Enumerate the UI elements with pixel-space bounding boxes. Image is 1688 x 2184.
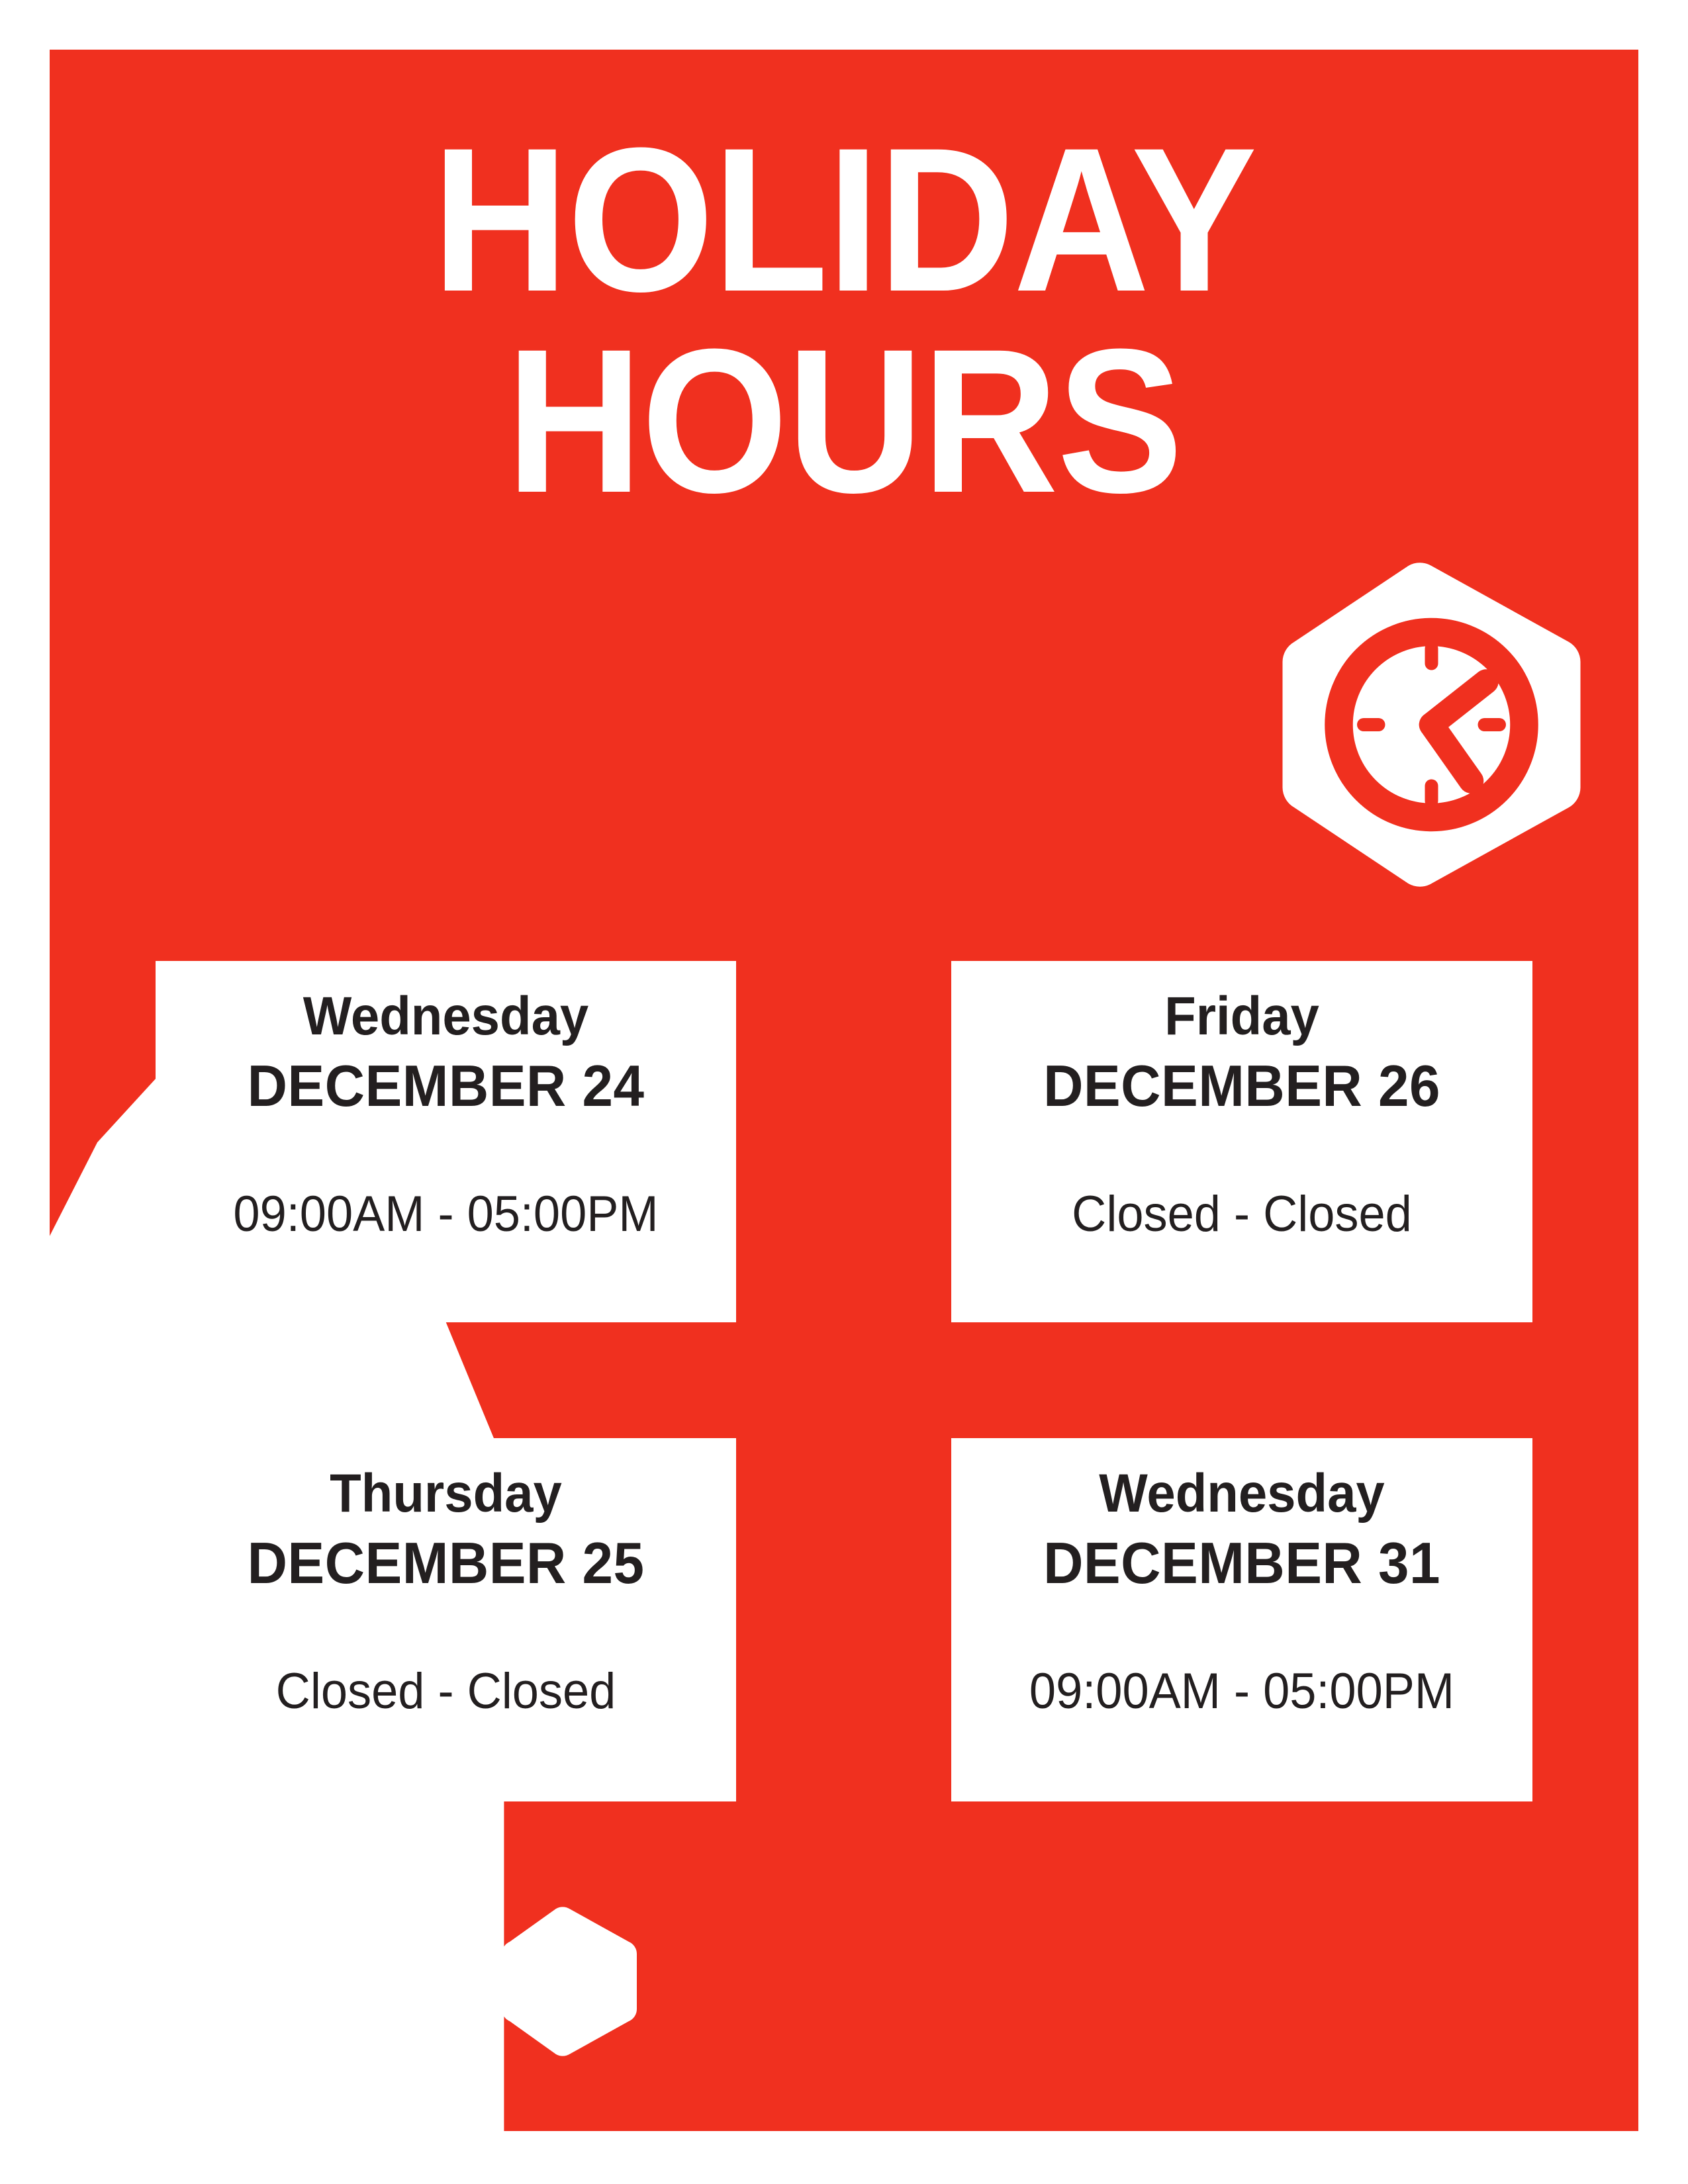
hours-card: Wednesday DECEMBER 31 09:00AM - 05:00PM	[951, 1438, 1532, 1801]
clock-icon	[1274, 559, 1589, 890]
card-day-label: Wednesday	[984, 1463, 1499, 1524]
hours-card: Friday DECEMBER 26 Closed - Closed	[951, 961, 1532, 1322]
card-hours-value: 09:00AM - 05:00PM	[189, 1184, 702, 1244]
card-day-label: Thursday	[189, 1463, 702, 1524]
card-day-label: Wednesday	[189, 986, 702, 1047]
card-date-label: DECEMBER 24	[189, 1051, 702, 1121]
card-hours-value: Closed - Closed	[984, 1184, 1499, 1244]
card-date-label: DECEMBER 25	[189, 1528, 702, 1598]
page-title: HOLIDAY HOURS	[113, 119, 1575, 522]
holiday-hours-poster: HOLIDAY HOURS Wednesday DECEMBER 24 09:0…	[0, 0, 1688, 2184]
card-hours-value: 09:00AM - 05:00PM	[984, 1661, 1499, 1721]
hours-card: Wednesday DECEMBER 24 09:00AM - 05:00PM	[156, 961, 736, 1322]
card-date-label: DECEMBER 31	[984, 1528, 1499, 1598]
card-date-label: DECEMBER 26	[984, 1051, 1499, 1121]
hours-card: Thursday DECEMBER 25 Closed - Closed	[156, 1438, 736, 1801]
hexagon-icon	[498, 1905, 641, 2058]
card-day-label: Friday	[984, 986, 1499, 1047]
card-hours-value: Closed - Closed	[189, 1661, 702, 1721]
